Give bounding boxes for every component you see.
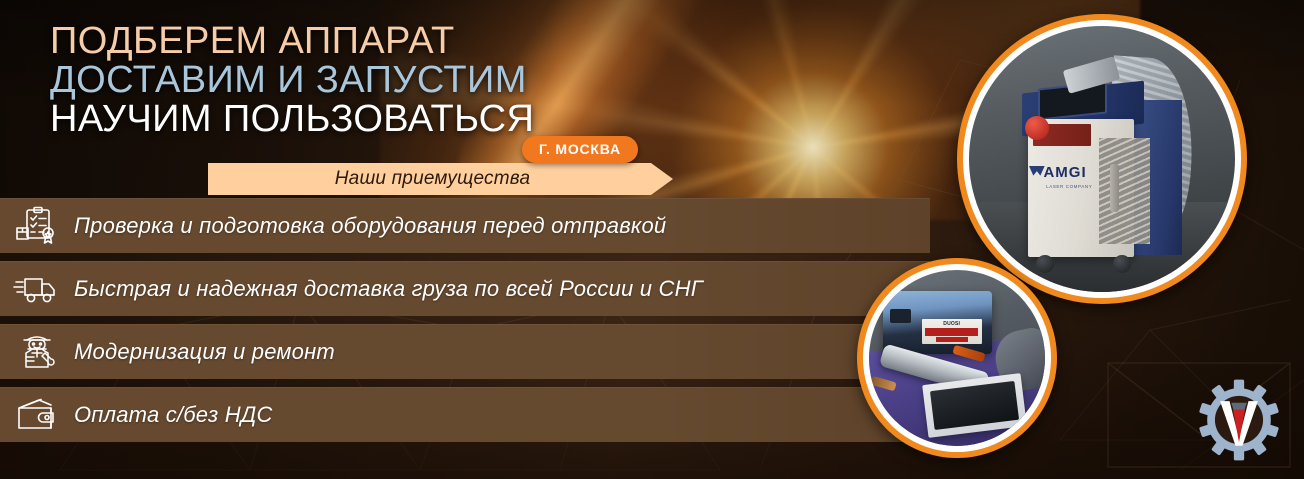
- feature-row-label: Проверка и подготовка оборудования перед…: [74, 213, 666, 239]
- feature-row-label: Модернизация и ремонт: [74, 339, 335, 365]
- photo-label-bar: [936, 337, 968, 342]
- headline-line-1: ПОДБЕРЕМ АППАРАТ: [50, 22, 534, 61]
- wallet-icon: [0, 387, 74, 442]
- feature-row: Модернизация и ремонт: [0, 324, 930, 379]
- feature-row: Быстрая и надежная доставка груза по все…: [0, 261, 930, 316]
- feature-list: Проверка и подготовка оборудования перед…: [0, 198, 930, 450]
- advantages-ribbon: Наши приемущества: [208, 163, 673, 195]
- feature-row-label: Быстрая и надежная доставка груза по все…: [74, 276, 703, 302]
- delivery-truck-icon: [0, 261, 74, 316]
- advantages-ribbon-label: Наши приемущества: [335, 168, 546, 190]
- welding-gun-photo: DUOSI: [869, 270, 1045, 446]
- feature-row: Проверка и подготовка оборудования перед…: [0, 198, 930, 253]
- clipboard-checklist-icon: [0, 198, 74, 253]
- photo-machine-vent: [1099, 138, 1150, 244]
- gear-v-logo: [1196, 377, 1282, 463]
- machine-photo-white-ring: AMGI LASER COMPANY: [963, 20, 1241, 298]
- feature-row-label: Оплата с/без НДС: [74, 402, 273, 428]
- photo-amgi-subtext: LASER COMPANY: [1046, 184, 1092, 189]
- worker-wrench-icon: [0, 324, 74, 379]
- headline-block: ПОДБЕРЕМ АППАРАТ ДОСТАВИМ И ЗАПУСТИМ НАУ…: [50, 22, 534, 139]
- promo-banner: ПОДБЕРЕМ АППАРАТ ДОСТАВИМ И ЗАПУСТИМ НАУ…: [0, 0, 1304, 479]
- laser-welder-photo: AMGI LASER COMPANY: [969, 26, 1235, 292]
- photo-door-handle: [1110, 164, 1119, 212]
- photo-toolbox-latch: [890, 309, 911, 323]
- welding-photo-white-ring: DUOSI: [863, 264, 1051, 452]
- photo-toolbox-label: DUOSI: [922, 319, 982, 344]
- machine-photo-circle: AMGI LASER COMPANY: [957, 14, 1247, 304]
- welding-photo-circle: DUOSI: [857, 258, 1057, 458]
- feature-row: Оплата с/без НДС: [0, 387, 930, 442]
- photo-plate-inner: [930, 381, 1019, 430]
- headline-line-2: ДОСТАВИМ И ЗАПУСТИМ: [50, 61, 534, 100]
- city-badge: Г. МОСКВА: [522, 136, 638, 163]
- headline-line-3: НАУЧИМ ПОЛЬЗОВАТЬСЯ: [50, 100, 534, 139]
- photo-label-bar: [925, 328, 978, 337]
- photo-label-brand: DUOSI: [943, 321, 960, 327]
- photo-amgi-brand: AMGI: [1043, 164, 1086, 181]
